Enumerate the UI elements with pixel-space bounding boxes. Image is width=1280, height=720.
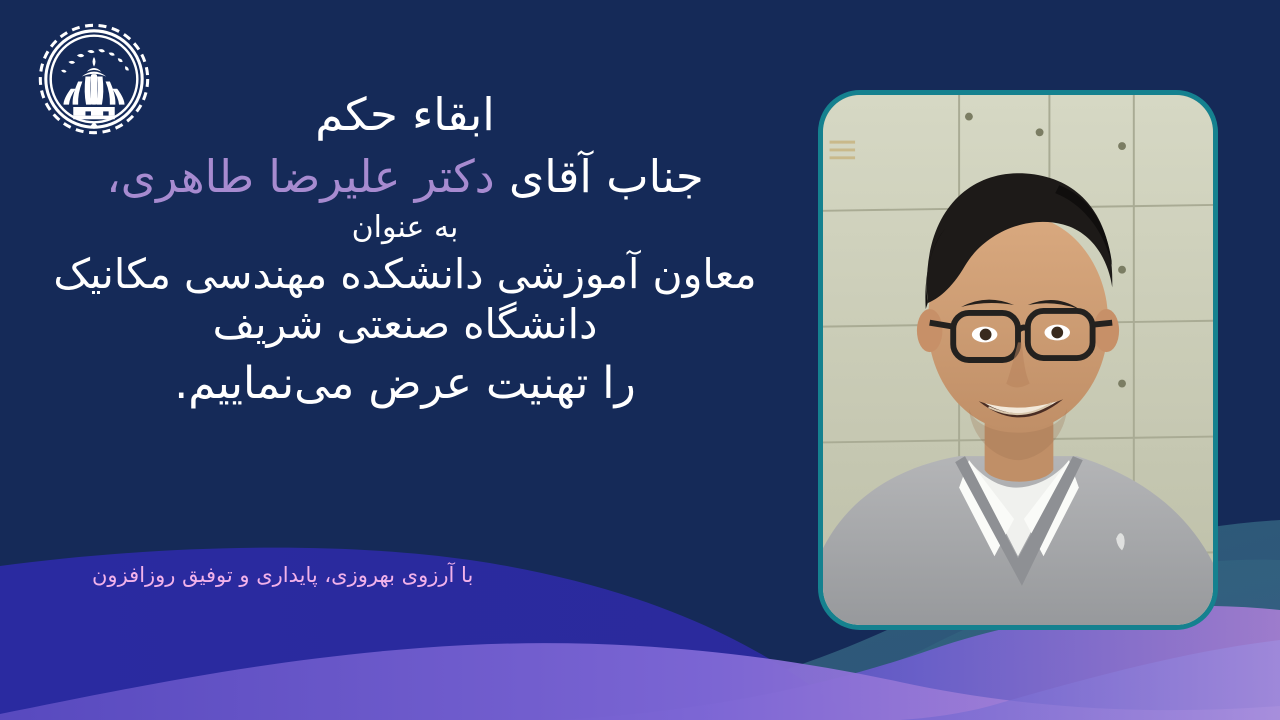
message-line-closing: را تهنیت عرض می‌نماییم. [30, 358, 780, 410]
wave-violet-bright [0, 643, 1280, 720]
signature-text: با آرزوی بهروزی، پایداری و توفیق روزافزو… [92, 563, 473, 587]
wave-lavender [900, 640, 1280, 720]
message-line-role-secondary: دانشگاه صنعتی شریف [30, 300, 780, 348]
message-name-prefix: جناب آقای [495, 150, 704, 203]
portrait-photo-frame [818, 90, 1218, 630]
message-line-name: جناب آقای دکتر علیرضا طاهری، [30, 150, 780, 203]
sharif-university-logo [33, 18, 155, 140]
portrait-photo [823, 95, 1213, 625]
announcement-slide: ابقاء حکم جناب آقای دکتر علیرضا طاهری، ب… [0, 0, 1280, 720]
message-line-as: به عنوان [30, 210, 780, 245]
logo-icon [33, 18, 155, 140]
message-name-highlight: دکتر علیرضا طاهری، [106, 150, 494, 203]
portrait-illustration [823, 95, 1213, 625]
message-line-role-primary: معاون آموزشی دانشکده مهندسی مکانیک [30, 250, 780, 298]
